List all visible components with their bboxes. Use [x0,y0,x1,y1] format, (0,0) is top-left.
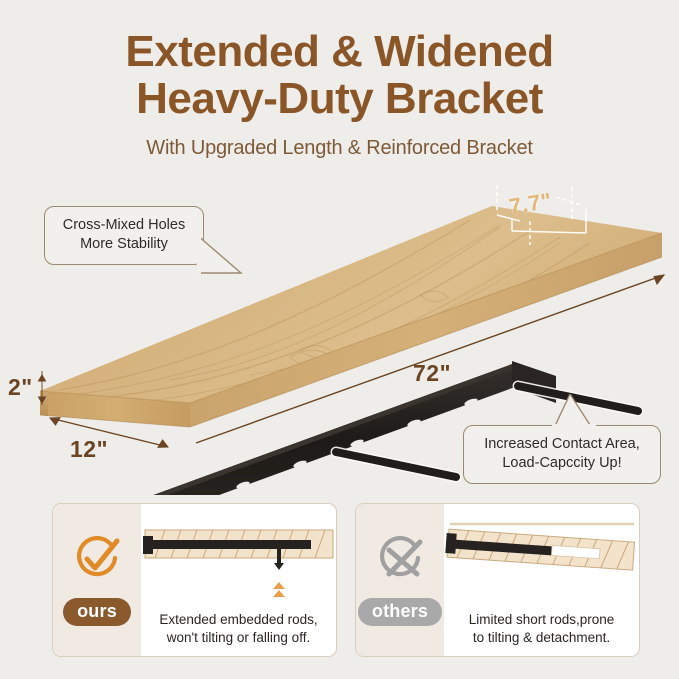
card-ours-caption-line-2: won't tilting or falling off. [147,629,330,647]
card-others-badge-column: others [356,504,444,656]
comparison-card-others: others [355,503,640,657]
callout-left-line-2: More Stability [57,235,191,254]
comparison-card-ours: ours [52,503,337,657]
callout-increased-contact-area: Increased Contact Area, Load-Capccity Up… [463,425,661,484]
check-circle-icon [72,534,122,584]
page-subtitle: With Upgraded Length & Reinforced Bracke… [0,137,679,160]
callout-left-line-1: Cross-Mixed Holes [57,216,191,235]
callout-right-line-2: Load-Capccity Up! [476,454,648,473]
badge-ours: ours [63,598,131,626]
infographic-canvas: Extended & Widened Heavy-Duty Bracket Wi… [0,0,679,679]
card-ours-content: Extended embedded rods, won't tilting or… [141,504,336,656]
title-line-1: Extended & Widened [125,27,553,76]
card-ours-badge-column: ours [53,504,141,656]
callout-right-line-1: Increased Contact Area, [476,435,648,454]
title-line-2: Heavy-Duty Bracket [0,75,679,122]
ours-rod-diagram [141,508,336,600]
card-others-caption-line-1: Limited short rods,prone [450,611,633,629]
callout-cross-mixed-holes: Cross-Mixed Holes More Stability [44,206,204,265]
callout-left-tail [197,233,243,277]
card-others-content: Limited short rods,prone to tilting & de… [444,504,639,656]
callout-right-tail [544,394,600,430]
page-title: Extended & Widened Heavy-Duty Bracket [0,28,679,122]
dimension-label-depth: 12" [70,436,108,463]
card-ours-caption: Extended embedded rods, won't tilting or… [141,611,336,647]
card-ours-caption-line-1: Extended embedded rods, [147,611,330,629]
card-others-caption: Limited short rods,prone to tilting & de… [444,611,639,647]
card-others-caption-line-2: to tilting & detachment. [450,629,633,647]
others-rod-diagram [444,508,639,600]
dimension-label-thickness: 2" [8,374,33,401]
comparison-section: ours [0,503,679,658]
badge-others: others [358,598,442,626]
x-circle-icon [375,534,425,584]
dimension-label-length: 72" [413,360,451,387]
shelf-end-cap [40,391,48,416]
